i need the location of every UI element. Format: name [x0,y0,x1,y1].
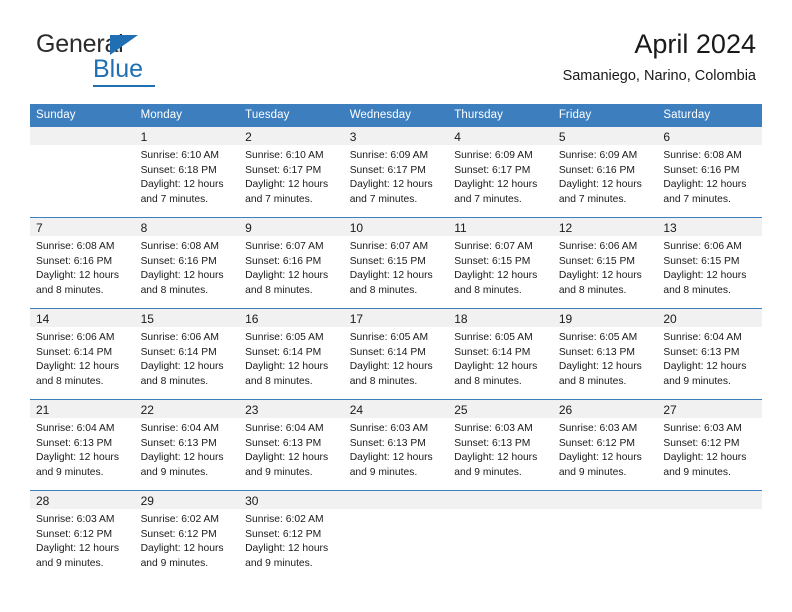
day-number: 18 [448,309,553,327]
daylight-text-line1: Daylight: 12 hours [663,360,755,375]
calendar-body: 1Sunrise: 6:10 AMSunset: 6:18 PMDaylight… [30,127,762,582]
sunrise-text: Sunrise: 6:09 AM [559,149,651,164]
sunrise-text: Sunrise: 6:07 AM [350,240,442,255]
sunrise-text: Sunrise: 6:08 AM [141,240,233,255]
day-details: Sunrise: 6:06 AMSunset: 6:14 PMDaylight:… [30,327,135,389]
day-cell-inner [553,491,658,581]
daylight-text-line2: and 7 minutes. [559,193,651,208]
sunset-text: Sunset: 6:14 PM [350,346,442,361]
calendar-day-cell[interactable]: 11Sunrise: 6:07 AMSunset: 6:15 PMDayligh… [448,218,553,309]
weekday-header-thursday: Thursday [448,104,553,127]
day-number [448,491,553,509]
daylight-text-line1: Daylight: 12 hours [245,542,337,557]
day-number: 27 [657,400,762,418]
day-number: 5 [553,127,658,145]
day-details: Sunrise: 6:09 AMSunset: 6:16 PMDaylight:… [553,145,658,207]
calendar-day-cell[interactable]: 26Sunrise: 6:03 AMSunset: 6:12 PMDayligh… [553,400,658,491]
calendar-day-cell[interactable]: 16Sunrise: 6:05 AMSunset: 6:14 PMDayligh… [239,309,344,400]
sunrise-text: Sunrise: 6:04 AM [663,331,755,346]
day-cell-inner [30,127,135,217]
daylight-text-line1: Daylight: 12 hours [350,451,442,466]
calendar-day-cell[interactable]: 14Sunrise: 6:06 AMSunset: 6:14 PMDayligh… [30,309,135,400]
daylight-text-line1: Daylight: 12 hours [350,360,442,375]
daylight-text-line2: and 9 minutes. [663,466,755,481]
sunset-text: Sunset: 6:13 PM [141,437,233,452]
sunrise-text: Sunrise: 6:03 AM [36,513,128,528]
daylight-text-line1: Daylight: 12 hours [454,178,546,193]
sunrise-text: Sunrise: 6:08 AM [663,149,755,164]
daylight-text-line1: Daylight: 12 hours [245,269,337,284]
calendar-day-cell[interactable]: 2Sunrise: 6:10 AMSunset: 6:17 PMDaylight… [239,127,344,218]
day-number: 15 [135,309,240,327]
sunset-text: Sunset: 6:18 PM [141,164,233,179]
day-number: 19 [553,309,658,327]
calendar-day-cell[interactable]: 17Sunrise: 6:05 AMSunset: 6:14 PMDayligh… [344,309,449,400]
day-cell-inner: 11Sunrise: 6:07 AMSunset: 6:15 PMDayligh… [448,218,553,308]
daylight-text-line1: Daylight: 12 hours [36,451,128,466]
day-details: Sunrise: 6:08 AMSunset: 6:16 PMDaylight:… [657,145,762,207]
day-cell-inner: 2Sunrise: 6:10 AMSunset: 6:17 PMDaylight… [239,127,344,217]
daylight-text-line1: Daylight: 12 hours [141,451,233,466]
day-cell-inner: 20Sunrise: 6:04 AMSunset: 6:13 PMDayligh… [657,309,762,399]
day-cell-inner: 30Sunrise: 6:02 AMSunset: 6:12 PMDayligh… [239,491,344,581]
daylight-text-line1: Daylight: 12 hours [245,178,337,193]
weekday-header-saturday: Saturday [657,104,762,127]
day-details: Sunrise: 6:03 AMSunset: 6:12 PMDaylight:… [30,509,135,571]
sunrise-text: Sunrise: 6:03 AM [350,422,442,437]
day-cell-inner: 25Sunrise: 6:03 AMSunset: 6:13 PMDayligh… [448,400,553,490]
sunrise-text: Sunrise: 6:08 AM [36,240,128,255]
day-number: 22 [135,400,240,418]
day-cell-inner: 23Sunrise: 6:04 AMSunset: 6:13 PMDayligh… [239,400,344,490]
day-number: 23 [239,400,344,418]
sunset-text: Sunset: 6:13 PM [245,437,337,452]
title-block: April 2024 Samaniego, Narino, Colombia [563,28,756,86]
day-cell-inner: 19Sunrise: 6:05 AMSunset: 6:13 PMDayligh… [553,309,658,399]
day-number: 29 [135,491,240,509]
calendar-day-cell[interactable]: 6Sunrise: 6:08 AMSunset: 6:16 PMDaylight… [657,127,762,218]
calendar-day-cell[interactable]: 8Sunrise: 6:08 AMSunset: 6:16 PMDaylight… [135,218,240,309]
daylight-text-line2: and 8 minutes. [350,375,442,390]
daylight-text-line2: and 9 minutes. [36,557,128,572]
daylight-text-line2: and 8 minutes. [559,375,651,390]
day-details: Sunrise: 6:06 AMSunset: 6:15 PMDaylight:… [553,236,658,298]
sunset-text: Sunset: 6:17 PM [245,164,337,179]
daylight-text-line2: and 8 minutes. [36,284,128,299]
day-cell-inner [448,491,553,581]
daylight-text-line2: and 9 minutes. [245,557,337,572]
sunrise-text: Sunrise: 6:03 AM [454,422,546,437]
day-details: Sunrise: 6:06 AMSunset: 6:15 PMDaylight:… [657,236,762,298]
sunrise-text: Sunrise: 6:07 AM [454,240,546,255]
day-number: 14 [30,309,135,327]
daylight-text-line2: and 8 minutes. [141,284,233,299]
day-cell-inner: 24Sunrise: 6:03 AMSunset: 6:13 PMDayligh… [344,400,449,490]
calendar-day-cell [657,491,762,582]
daylight-text-line1: Daylight: 12 hours [559,269,651,284]
daylight-text-line1: Daylight: 12 hours [245,451,337,466]
day-cell-inner: 26Sunrise: 6:03 AMSunset: 6:12 PMDayligh… [553,400,658,490]
day-cell-inner: 14Sunrise: 6:06 AMSunset: 6:14 PMDayligh… [30,309,135,399]
sunrise-text: Sunrise: 6:05 AM [245,331,337,346]
daylight-text-line2: and 7 minutes. [663,193,755,208]
day-cell-inner: 4Sunrise: 6:09 AMSunset: 6:17 PMDaylight… [448,127,553,217]
sunrise-text: Sunrise: 6:02 AM [245,513,337,528]
day-cell-inner: 12Sunrise: 6:06 AMSunset: 6:15 PMDayligh… [553,218,658,308]
day-details: Sunrise: 6:04 AMSunset: 6:13 PMDaylight:… [135,418,240,480]
sunset-text: Sunset: 6:13 PM [559,346,651,361]
day-details: Sunrise: 6:08 AMSunset: 6:16 PMDaylight:… [30,236,135,298]
day-cell-inner: 13Sunrise: 6:06 AMSunset: 6:15 PMDayligh… [657,218,762,308]
day-cell-inner: 29Sunrise: 6:02 AMSunset: 6:12 PMDayligh… [135,491,240,581]
sunset-text: Sunset: 6:15 PM [559,255,651,270]
day-details: Sunrise: 6:06 AMSunset: 6:14 PMDaylight:… [135,327,240,389]
day-cell-inner: 7Sunrise: 6:08 AMSunset: 6:16 PMDaylight… [30,218,135,308]
daylight-text-line2: and 8 minutes. [245,284,337,299]
daylight-text-line1: Daylight: 12 hours [454,451,546,466]
daylight-text-line2: and 9 minutes. [141,557,233,572]
sunrise-text: Sunrise: 6:10 AM [141,149,233,164]
page-title: April 2024 [563,28,756,60]
sunrise-text: Sunrise: 6:03 AM [663,422,755,437]
weekday-header-sunday: Sunday [30,104,135,127]
daylight-text-line2: and 9 minutes. [350,466,442,481]
day-details: Sunrise: 6:10 AMSunset: 6:17 PMDaylight:… [239,145,344,207]
weekday-header-monday: Monday [135,104,240,127]
day-number [344,491,449,509]
day-cell-inner [657,491,762,581]
calendar-day-cell[interactable]: 27Sunrise: 6:03 AMSunset: 6:12 PMDayligh… [657,400,762,491]
sunset-text: Sunset: 6:17 PM [454,164,546,179]
calendar-day-cell[interactable]: 20Sunrise: 6:04 AMSunset: 6:13 PMDayligh… [657,309,762,400]
daylight-text-line2: and 7 minutes. [454,193,546,208]
calendar-day-cell[interactable]: 23Sunrise: 6:04 AMSunset: 6:13 PMDayligh… [239,400,344,491]
calendar-page: General Blue April 2024 Samaniego, Narin… [0,0,792,612]
day-number: 20 [657,309,762,327]
daylight-text-line1: Daylight: 12 hours [141,360,233,375]
day-details: Sunrise: 6:08 AMSunset: 6:16 PMDaylight:… [135,236,240,298]
sunrise-text: Sunrise: 6:06 AM [36,331,128,346]
sunset-text: Sunset: 6:13 PM [36,437,128,452]
sunset-text: Sunset: 6:14 PM [36,346,128,361]
daylight-text-line2: and 8 minutes. [559,284,651,299]
day-number: 4 [448,127,553,145]
day-number [30,127,135,145]
sunset-text: Sunset: 6:15 PM [350,255,442,270]
day-cell-inner: 22Sunrise: 6:04 AMSunset: 6:13 PMDayligh… [135,400,240,490]
calendar-day-cell[interactable]: 10Sunrise: 6:07 AMSunset: 6:15 PMDayligh… [344,218,449,309]
day-details: Sunrise: 6:04 AMSunset: 6:13 PMDaylight:… [657,327,762,389]
calendar-week-row: 14Sunrise: 6:06 AMSunset: 6:14 PMDayligh… [30,309,762,400]
sunrise-text: Sunrise: 6:06 AM [663,240,755,255]
calendar-day-cell[interactable]: 21Sunrise: 6:04 AMSunset: 6:13 PMDayligh… [30,400,135,491]
sunset-text: Sunset: 6:16 PM [36,255,128,270]
daylight-text-line1: Daylight: 12 hours [141,269,233,284]
daylight-text-line1: Daylight: 12 hours [36,269,128,284]
general-blue-logo: General Blue [36,32,206,88]
sunset-text: Sunset: 6:16 PM [559,164,651,179]
daylight-text-line1: Daylight: 12 hours [36,542,128,557]
daylight-text-line2: and 8 minutes. [245,375,337,390]
calendar-day-cell[interactable]: 28Sunrise: 6:03 AMSunset: 6:12 PMDayligh… [30,491,135,582]
daylight-text-line1: Daylight: 12 hours [141,178,233,193]
calendar-day-cell[interactable]: 30Sunrise: 6:02 AMSunset: 6:12 PMDayligh… [239,491,344,582]
sunset-text: Sunset: 6:14 PM [454,346,546,361]
day-number: 13 [657,218,762,236]
day-number [657,491,762,509]
sunset-text: Sunset: 6:15 PM [663,255,755,270]
daylight-text-line2: and 8 minutes. [36,375,128,390]
sunset-text: Sunset: 6:16 PM [141,255,233,270]
sunset-text: Sunset: 6:13 PM [350,437,442,452]
day-number: 2 [239,127,344,145]
sunrise-text: Sunrise: 6:02 AM [141,513,233,528]
day-number: 17 [344,309,449,327]
daylight-text-line2: and 9 minutes. [663,375,755,390]
logo-text-blue: Blue [93,57,155,87]
day-cell-inner: 1Sunrise: 6:10 AMSunset: 6:18 PMDaylight… [135,127,240,217]
day-number: 1 [135,127,240,145]
day-details: Sunrise: 6:03 AMSunset: 6:13 PMDaylight:… [344,418,449,480]
sunrise-text: Sunrise: 6:09 AM [454,149,546,164]
calendar-week-row: 28Sunrise: 6:03 AMSunset: 6:12 PMDayligh… [30,491,762,582]
sunset-text: Sunset: 6:14 PM [245,346,337,361]
calendar-day-cell[interactable]: 18Sunrise: 6:05 AMSunset: 6:14 PMDayligh… [448,309,553,400]
daylight-text-line1: Daylight: 12 hours [141,542,233,557]
sunrise-text: Sunrise: 6:09 AM [350,149,442,164]
day-details: Sunrise: 6:04 AMSunset: 6:13 PMDaylight:… [30,418,135,480]
daylight-text-line2: and 9 minutes. [141,466,233,481]
day-number: 21 [30,400,135,418]
sunset-text: Sunset: 6:12 PM [141,528,233,543]
daylight-text-line2: and 7 minutes. [141,193,233,208]
sunset-text: Sunset: 6:17 PM [350,164,442,179]
day-cell-inner: 8Sunrise: 6:08 AMSunset: 6:16 PMDaylight… [135,218,240,308]
calendar-day-cell[interactable]: 5Sunrise: 6:09 AMSunset: 6:16 PMDaylight… [553,127,658,218]
day-number: 3 [344,127,449,145]
day-cell-inner: 17Sunrise: 6:05 AMSunset: 6:14 PMDayligh… [344,309,449,399]
day-number: 7 [30,218,135,236]
calendar-week-row: 21Sunrise: 6:04 AMSunset: 6:13 PMDayligh… [30,400,762,491]
calendar-day-cell[interactable]: 29Sunrise: 6:02 AMSunset: 6:12 PMDayligh… [135,491,240,582]
calendar-day-cell[interactable]: 9Sunrise: 6:07 AMSunset: 6:16 PMDaylight… [239,218,344,309]
day-details: Sunrise: 6:04 AMSunset: 6:13 PMDaylight:… [239,418,344,480]
daylight-text-line2: and 8 minutes. [141,375,233,390]
sunrise-text: Sunrise: 6:03 AM [559,422,651,437]
sunset-text: Sunset: 6:14 PM [141,346,233,361]
sunset-text: Sunset: 6:12 PM [245,528,337,543]
sunset-text: Sunset: 6:13 PM [454,437,546,452]
day-details: Sunrise: 6:10 AMSunset: 6:18 PMDaylight:… [135,145,240,207]
daylight-text-line1: Daylight: 12 hours [663,451,755,466]
weekday-header-wednesday: Wednesday [344,104,449,127]
sunrise-text: Sunrise: 6:04 AM [36,422,128,437]
daylight-text-line1: Daylight: 12 hours [36,360,128,375]
daylight-text-line2: and 8 minutes. [350,284,442,299]
daylight-text-line1: Daylight: 12 hours [663,178,755,193]
day-details: Sunrise: 6:05 AMSunset: 6:14 PMDaylight:… [344,327,449,389]
day-cell-inner: 9Sunrise: 6:07 AMSunset: 6:16 PMDaylight… [239,218,344,308]
sunset-text: Sunset: 6:16 PM [245,255,337,270]
daylight-text-line1: Daylight: 12 hours [559,360,651,375]
sunrise-text: Sunrise: 6:10 AM [245,149,337,164]
day-cell-inner: 5Sunrise: 6:09 AMSunset: 6:16 PMDaylight… [553,127,658,217]
day-number: 8 [135,218,240,236]
calendar-day-cell[interactable]: 1Sunrise: 6:10 AMSunset: 6:18 PMDaylight… [135,127,240,218]
day-number: 30 [239,491,344,509]
day-details: Sunrise: 6:02 AMSunset: 6:12 PMDaylight:… [239,509,344,571]
sunrise-text: Sunrise: 6:07 AM [245,240,337,255]
day-number: 25 [448,400,553,418]
daylight-text-line1: Daylight: 12 hours [559,178,651,193]
day-details: Sunrise: 6:07 AMSunset: 6:15 PMDaylight:… [448,236,553,298]
calendar-day-cell [30,127,135,218]
day-details: Sunrise: 6:09 AMSunset: 6:17 PMDaylight:… [344,145,449,207]
day-number: 12 [553,218,658,236]
day-number [553,491,658,509]
sunrise-text: Sunrise: 6:04 AM [141,422,233,437]
calendar-day-cell[interactable]: 4Sunrise: 6:09 AMSunset: 6:17 PMDaylight… [448,127,553,218]
daylight-text-line2: and 9 minutes. [559,466,651,481]
sunrise-text: Sunrise: 6:05 AM [350,331,442,346]
day-details: Sunrise: 6:02 AMSunset: 6:12 PMDaylight:… [135,509,240,571]
sunset-text: Sunset: 6:12 PM [36,528,128,543]
day-number: 26 [553,400,658,418]
day-cell-inner: 3Sunrise: 6:09 AMSunset: 6:17 PMDaylight… [344,127,449,217]
day-number: 6 [657,127,762,145]
daylight-text-line2: and 7 minutes. [350,193,442,208]
logo-triangle-icon [110,35,138,55]
day-details: Sunrise: 6:05 AMSunset: 6:13 PMDaylight:… [553,327,658,389]
daylight-text-line1: Daylight: 12 hours [350,178,442,193]
day-number: 11 [448,218,553,236]
daylight-text-line2: and 8 minutes. [663,284,755,299]
day-number: 9 [239,218,344,236]
day-cell-inner: 27Sunrise: 6:03 AMSunset: 6:12 PMDayligh… [657,400,762,490]
sunset-text: Sunset: 6:12 PM [663,437,755,452]
day-number: 28 [30,491,135,509]
calendar-day-cell [553,491,658,582]
daylight-text-line1: Daylight: 12 hours [454,360,546,375]
day-cell-inner: 10Sunrise: 6:07 AMSunset: 6:15 PMDayligh… [344,218,449,308]
day-cell-inner: 16Sunrise: 6:05 AMSunset: 6:14 PMDayligh… [239,309,344,399]
sunrise-text: Sunrise: 6:04 AM [245,422,337,437]
day-details: Sunrise: 6:07 AMSunset: 6:16 PMDaylight:… [239,236,344,298]
daylight-text-line2: and 7 minutes. [245,193,337,208]
daylight-text-line1: Daylight: 12 hours [663,269,755,284]
day-cell-inner: 21Sunrise: 6:04 AMSunset: 6:13 PMDayligh… [30,400,135,490]
day-cell-inner: 18Sunrise: 6:05 AMSunset: 6:14 PMDayligh… [448,309,553,399]
weekday-header-tuesday: Tuesday [239,104,344,127]
sunset-text: Sunset: 6:13 PM [663,346,755,361]
sunrise-text: Sunrise: 6:06 AM [141,331,233,346]
daylight-text-line2: and 9 minutes. [454,466,546,481]
calendar-day-cell[interactable]: 13Sunrise: 6:06 AMSunset: 6:15 PMDayligh… [657,218,762,309]
day-number: 10 [344,218,449,236]
daylight-text-line1: Daylight: 12 hours [245,360,337,375]
sunset-text: Sunset: 6:16 PM [663,164,755,179]
daylight-text-line2: and 8 minutes. [454,284,546,299]
calendar-day-cell[interactable]: 15Sunrise: 6:06 AMSunset: 6:14 PMDayligh… [135,309,240,400]
calendar-day-cell[interactable]: 7Sunrise: 6:08 AMSunset: 6:16 PMDaylight… [30,218,135,309]
day-details: Sunrise: 6:05 AMSunset: 6:14 PMDaylight:… [448,327,553,389]
calendar-week-row: 1Sunrise: 6:10 AMSunset: 6:18 PMDaylight… [30,127,762,218]
calendar-week-row: 7Sunrise: 6:08 AMSunset: 6:16 PMDaylight… [30,218,762,309]
page-header: General Blue April 2024 Samaniego, Narin… [0,0,792,104]
page-subtitle: Samaniego, Narino, Colombia [563,66,756,86]
daylight-text-line1: Daylight: 12 hours [454,269,546,284]
day-cell-inner [344,491,449,581]
calendar-day-cell [344,491,449,582]
calendar-day-cell[interactable]: 3Sunrise: 6:09 AMSunset: 6:17 PMDaylight… [344,127,449,218]
calendar-day-cell [448,491,553,582]
day-details: Sunrise: 6:03 AMSunset: 6:13 PMDaylight:… [448,418,553,480]
sunrise-text: Sunrise: 6:06 AM [559,240,651,255]
daylight-text-line1: Daylight: 12 hours [350,269,442,284]
calendar-day-cell[interactable]: 22Sunrise: 6:04 AMSunset: 6:13 PMDayligh… [135,400,240,491]
calendar-table: Sunday Monday Tuesday Wednesday Thursday… [30,104,762,581]
calendar-day-cell[interactable]: 24Sunrise: 6:03 AMSunset: 6:13 PMDayligh… [344,400,449,491]
calendar-header-row: Sunday Monday Tuesday Wednesday Thursday… [30,104,762,127]
calendar-day-cell[interactable]: 25Sunrise: 6:03 AMSunset: 6:13 PMDayligh… [448,400,553,491]
daylight-text-line2: and 8 minutes. [454,375,546,390]
sunset-text: Sunset: 6:12 PM [559,437,651,452]
day-details: Sunrise: 6:03 AMSunset: 6:12 PMDaylight:… [553,418,658,480]
sunset-text: Sunset: 6:15 PM [454,255,546,270]
day-details: Sunrise: 6:05 AMSunset: 6:14 PMDaylight:… [239,327,344,389]
day-cell-inner: 15Sunrise: 6:06 AMSunset: 6:14 PMDayligh… [135,309,240,399]
calendar-day-cell[interactable]: 12Sunrise: 6:06 AMSunset: 6:15 PMDayligh… [553,218,658,309]
day-details: Sunrise: 6:07 AMSunset: 6:15 PMDaylight:… [344,236,449,298]
daylight-text-line1: Daylight: 12 hours [559,451,651,466]
weekday-header-friday: Friday [553,104,658,127]
daylight-text-line2: and 9 minutes. [245,466,337,481]
day-cell-inner: 28Sunrise: 6:03 AMSunset: 6:12 PMDayligh… [30,491,135,581]
calendar-day-cell[interactable]: 19Sunrise: 6:05 AMSunset: 6:13 PMDayligh… [553,309,658,400]
day-details: Sunrise: 6:03 AMSunset: 6:12 PMDaylight:… [657,418,762,480]
day-cell-inner: 6Sunrise: 6:08 AMSunset: 6:16 PMDaylight… [657,127,762,217]
day-number: 16 [239,309,344,327]
daylight-text-line2: and 9 minutes. [36,466,128,481]
sunrise-text: Sunrise: 6:05 AM [559,331,651,346]
day-details: Sunrise: 6:09 AMSunset: 6:17 PMDaylight:… [448,145,553,207]
day-number: 24 [344,400,449,418]
sunrise-text: Sunrise: 6:05 AM [454,331,546,346]
